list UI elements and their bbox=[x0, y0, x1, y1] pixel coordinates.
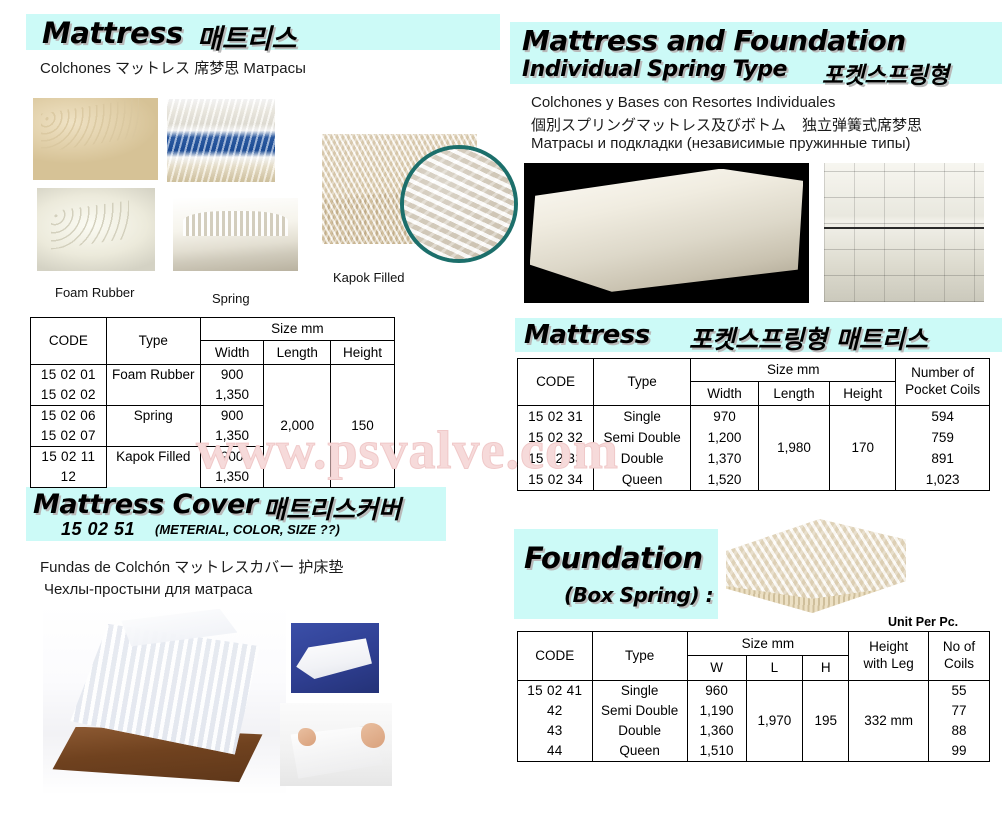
cell-type: Double bbox=[594, 448, 691, 469]
table-row: 15 02 34 Queen 1,520 1,023 bbox=[518, 469, 990, 491]
cell-type: Spring bbox=[106, 406, 200, 447]
cell-length-shared: 1,980 bbox=[758, 406, 829, 491]
cell-code: 15 02 34 bbox=[518, 469, 594, 491]
table-row: 15 02 32 Semi Double 1,200 759 bbox=[518, 427, 990, 448]
th-pocket-coils: Number of Pocket Coils bbox=[896, 359, 990, 406]
cell-code: 15 02 01 bbox=[31, 365, 107, 386]
cell-type: Semi Double bbox=[594, 427, 691, 448]
cell-coils: 1,023 bbox=[896, 469, 990, 491]
right-subtitle-ru: Матрасы и подкладки (независимые пружинн… bbox=[531, 135, 911, 152]
th-type: Type bbox=[594, 359, 691, 406]
hand-shape-right bbox=[361, 723, 386, 748]
mattress-basic-table: CODE Type Size mm Width Length Height 15… bbox=[30, 317, 395, 488]
cell-height-with-leg-shared: 332 mm bbox=[849, 681, 929, 762]
photo-box-spring-foundation bbox=[726, 519, 906, 613]
cell-width: 900 bbox=[200, 365, 264, 386]
table-row: 15 02 41 Single 960 1,970 195 332 mm 55 bbox=[518, 681, 990, 702]
unit-per-pc-label: Unit Per Pc. bbox=[888, 615, 958, 629]
th-pocket-coils-line1: Number of bbox=[911, 365, 974, 380]
caption-spring: Spring bbox=[212, 291, 250, 306]
mattress-cover-subtitle-1: Fundas de Colchón マットレスカバー 护床垫 bbox=[40, 556, 343, 577]
cell-width: 1,350 bbox=[200, 426, 264, 447]
cell-width: 1,350 bbox=[200, 467, 264, 488]
left-title-kr: 매트리스 bbox=[197, 17, 296, 56]
table-header-row: CODE Type Size mm bbox=[31, 318, 395, 341]
foundation-table: CODE Type Size mm Height with Leg No of … bbox=[517, 631, 990, 762]
table-row: 15 02 01 Foam Rubber 900 2,000 150 bbox=[31, 365, 395, 386]
cell-code: 42 bbox=[518, 701, 593, 721]
cell-code: 15 02 33 bbox=[518, 448, 594, 469]
th-type: Type bbox=[592, 632, 687, 681]
cell-width: 970 bbox=[691, 406, 759, 428]
cell-w: 1,510 bbox=[687, 741, 746, 762]
photo-pocket-coils bbox=[824, 163, 984, 302]
th-size: Size mm bbox=[691, 359, 896, 382]
right-title-line2-en: Individual Spring Type bbox=[522, 57, 787, 82]
photo-foam-rubber-slab bbox=[37, 188, 155, 271]
cell-w: 1,360 bbox=[687, 721, 746, 741]
th-h: H bbox=[803, 656, 849, 681]
th-height-with-leg-line2: with Leg bbox=[863, 656, 913, 671]
right-title-line1: Mattress and Foundation bbox=[522, 24, 906, 57]
cell-type: Semi Double bbox=[592, 701, 687, 721]
cell-width: 1,200 bbox=[691, 427, 759, 448]
cell-type: Queen bbox=[592, 741, 687, 762]
table-header-row: CODE Type Size mm Height with Leg No of … bbox=[518, 632, 990, 656]
photo-spring-cutaway bbox=[173, 198, 298, 271]
th-width: Width bbox=[691, 382, 759, 406]
th-length: Length bbox=[264, 341, 331, 365]
mattress-cover-code: 15 02 51 bbox=[61, 519, 135, 540]
th-code: CODE bbox=[518, 359, 594, 406]
cell-code: 15 02 02 bbox=[31, 385, 107, 406]
cell-type: Single bbox=[594, 406, 691, 428]
photo-spring-layers bbox=[167, 99, 275, 182]
caption-kapok-filled: Kapok Filled bbox=[333, 270, 405, 285]
cell-w: 960 bbox=[687, 681, 746, 702]
th-no-of-coils-line1: No of bbox=[943, 639, 975, 654]
th-size: Size mm bbox=[687, 632, 849, 656]
cell-height-shared: 150 bbox=[331, 365, 395, 488]
th-height: Height bbox=[830, 382, 896, 406]
th-width: Width bbox=[200, 341, 264, 365]
cell-coils: 55 bbox=[929, 681, 990, 702]
table-header-row: CODE Type Size mm Number of Pocket Coils bbox=[518, 359, 990, 382]
cell-code: 15 02 41 bbox=[518, 681, 593, 702]
cell-type: Kapok Filled bbox=[106, 447, 200, 488]
cell-height-shared: 170 bbox=[830, 406, 896, 491]
right-title-line2-kr: 포켓스프링형 bbox=[822, 56, 949, 90]
foundation-side-shape bbox=[726, 579, 906, 613]
cell-type: Foam Rubber bbox=[106, 365, 200, 406]
cell-h-shared: 195 bbox=[803, 681, 849, 762]
left-title-en: Mattress bbox=[42, 16, 183, 50]
table-row: 15 02 33 Double 1,370 891 bbox=[518, 448, 990, 469]
right-subtitle-jp: 個別スプリングマットレス及びボトム bbox=[531, 114, 786, 135]
pocket-spring-mattress-table: CODE Type Size mm Number of Pocket Coils… bbox=[517, 358, 990, 491]
cell-w: 1,190 bbox=[687, 701, 746, 721]
cell-code: 15 02 11 bbox=[31, 447, 107, 468]
left-subtitle: Colchones マットレス 席梦思 Матрасы bbox=[40, 57, 306, 78]
hand-shape-left bbox=[298, 728, 316, 746]
th-pocket-coils-line2: Pocket Coils bbox=[905, 382, 980, 397]
photo-kapok-fill-detail bbox=[400, 145, 518, 263]
th-height-with-leg-line1: Height bbox=[869, 639, 908, 654]
th-code: CODE bbox=[518, 632, 593, 681]
right-subtitle-es: Colchones y Bases con Resortes Individua… bbox=[531, 94, 835, 111]
cell-code: 15 02 31 bbox=[518, 406, 594, 428]
cell-type: Single bbox=[592, 681, 687, 702]
photo-foam-rubber-bed bbox=[33, 98, 158, 180]
photo-cover-fitting-by-hand bbox=[280, 703, 392, 786]
cell-code: 12 bbox=[31, 467, 107, 488]
cell-coils: 759 bbox=[896, 427, 990, 448]
caption-foam-rubber: Foam Rubber bbox=[55, 285, 134, 300]
cell-coils: 891 bbox=[896, 448, 990, 469]
th-code: CODE bbox=[31, 318, 107, 365]
cell-l-shared: 1,970 bbox=[746, 681, 803, 762]
cell-code: 15 02 06 bbox=[31, 406, 107, 427]
th-no-of-coils-line2: Coils bbox=[944, 656, 974, 671]
cell-code: 44 bbox=[518, 741, 593, 762]
catalog-page: www.psvalve.com Mattress 매트리스 Colchones … bbox=[0, 0, 1002, 814]
th-size: Size mm bbox=[200, 318, 394, 341]
mattress-cover-title-en: Mattress Cover bbox=[33, 489, 258, 520]
mattress-cover-subtitle-2: Чехлы-простыни для матраса bbox=[44, 581, 252, 598]
th-length: Length bbox=[758, 382, 829, 406]
th-type: Type bbox=[106, 318, 200, 365]
photo-cover-blue-background bbox=[291, 623, 379, 693]
right-subtitle-cn: 独立弹簧式席梦思 bbox=[802, 114, 922, 135]
cell-coils: 594 bbox=[896, 406, 990, 428]
cell-type: Queen bbox=[594, 469, 691, 491]
cell-width: 1,520 bbox=[691, 469, 759, 491]
cell-length-shared: 2,000 bbox=[264, 365, 331, 488]
cell-coils: 88 bbox=[929, 721, 990, 741]
cell-width: 900 bbox=[200, 406, 264, 427]
cell-coils: 77 bbox=[929, 701, 990, 721]
cell-width: 1,350 bbox=[200, 385, 264, 406]
cell-type: Double bbox=[592, 721, 687, 741]
mattress-section-title-kr: 포켓스프링형 매트리스 bbox=[689, 320, 928, 356]
th-height: Height bbox=[331, 341, 395, 365]
th-height-with-leg: Height with Leg bbox=[849, 632, 929, 681]
cell-coils: 99 bbox=[929, 741, 990, 762]
foundation-title-en: Foundation bbox=[524, 541, 702, 575]
th-w: W bbox=[687, 656, 746, 681]
cell-code: 43 bbox=[518, 721, 593, 741]
th-l: L bbox=[746, 656, 803, 681]
foundation-title-sub: (Box Spring) : bbox=[564, 583, 713, 607]
photo-pocket-spring-cutaway bbox=[524, 163, 809, 303]
th-no-of-coils: No of Coils bbox=[929, 632, 990, 681]
mattress-cover-title-kr: 매트리스커버 bbox=[263, 490, 401, 526]
table-row: 15 02 31 Single 970 1,980 170 594 bbox=[518, 406, 990, 428]
cell-width: 900 bbox=[200, 447, 264, 468]
cell-width: 1,370 bbox=[691, 448, 759, 469]
cell-code: 15 02 07 bbox=[31, 426, 107, 447]
mattress-cover-code-note: (METERIAL, COLOR, SIZE ??) bbox=[155, 522, 340, 537]
mattress-section-title-en: Mattress bbox=[524, 320, 650, 350]
photo-mattress-cover-on-bed bbox=[43, 605, 286, 795]
cell-code: 15 02 32 bbox=[518, 427, 594, 448]
